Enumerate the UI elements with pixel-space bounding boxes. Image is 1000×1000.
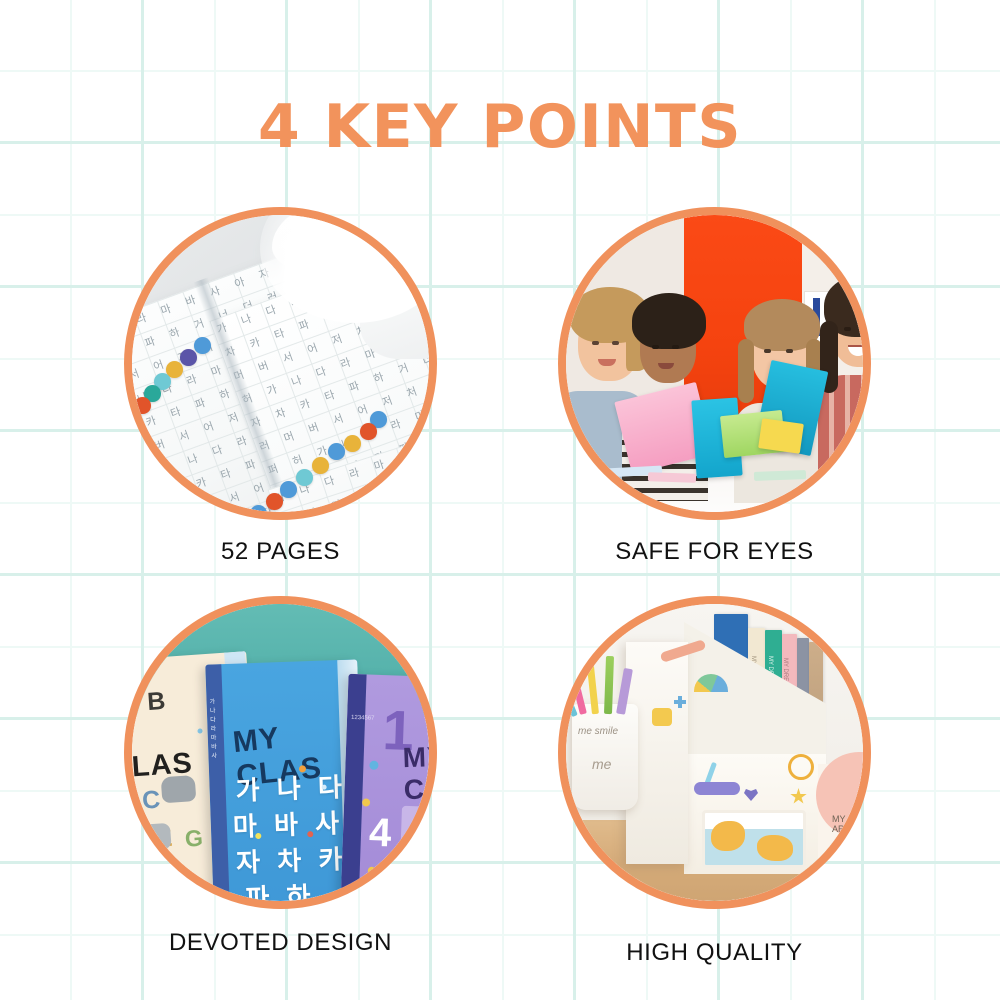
purple-numbers-cover: 1234567 1 MY C 4 (339, 674, 429, 901)
side-panel-text: MY ART (832, 814, 863, 834)
image-three-workbook-covers: CLAS A B C D E G J (132, 604, 429, 901)
heart-sticker (266, 493, 283, 510)
heart-sticker (360, 423, 377, 440)
heart-sticker (312, 457, 329, 474)
image-magazine-file-with-notebooks-on-desk: MY DREAM MATE MY DREAM MATE MY DREAM MAT… (566, 604, 863, 901)
heart-sticker (134, 397, 151, 414)
card-caption-high-quality: HIGH QUALITY (558, 939, 871, 967)
stopwatch-sticker (788, 754, 814, 780)
key-point-card-high-quality[interactable]: MY DREAM MATE MY DREAM MATE MY DREAM MAT… (558, 596, 871, 967)
hangul-line-3: 자 차 카 (236, 842, 348, 880)
hangul-line-1: 가 나 다 (235, 770, 347, 808)
image-four-students-reading-books (566, 215, 863, 512)
hangul-line-4: 파 하 (245, 879, 316, 901)
cup-text: me smile (578, 726, 618, 737)
heart-sticker (328, 443, 345, 460)
circle-frame-52-pages: 가나다라마바사아자 차카타파하거너더러 머버서어저처커터퍼 허가나다라마바사아 … (124, 207, 437, 520)
page-title: 4 KEY POINTS (0, 92, 1000, 162)
heart-sticker (180, 349, 197, 366)
card-caption-52-pages: 52 PAGES (124, 538, 437, 566)
holder-bottom-label (702, 810, 806, 868)
hangul-line-2: 마 바 사 (232, 806, 344, 844)
purple-cover-number-4: 4 (368, 811, 393, 857)
image-open-korean-workbook-under-desk-lamp: 가나다라마바사아자 차카타파하거너더러 머버서어저처커터퍼 허가나다라마바사아 … (132, 215, 429, 512)
card-caption-devoted-design: DEVOTED DESIGN (124, 929, 437, 957)
cup-text-2: me (592, 756, 611, 772)
yellow-square-sticker (652, 708, 672, 726)
plus-sticker (674, 696, 686, 708)
circle-frame-devoted-design: CLAS A B C D E G J (124, 596, 437, 909)
heart-sticker (296, 469, 313, 486)
circle-frame-high-quality: MY DREAM MATE MY DREAM MATE MY DREAM MAT… (558, 596, 871, 909)
key-point-card-safe-for-eyes[interactable]: SAFE FOR EYES (558, 207, 871, 566)
key-points-infographic: 4 KEY POINTS 가나다라마바사아자 차카타파하거너더러 머버서어저처커… (0, 0, 1000, 1000)
heart-sticker (194, 337, 211, 354)
holder-label-tag (694, 782, 740, 795)
card-caption-safe-for-eyes: SAFE FOR EYES (558, 538, 871, 566)
key-point-card-52-pages[interactable]: 가나다라마바사아자 차카타파하거너더러 머버서어저처커터퍼 허가나다라마바사아 … (124, 207, 437, 566)
heart-sticker (344, 435, 361, 452)
key-point-card-devoted-design[interactable]: CLAS A B C D E G J (124, 596, 437, 957)
heart-sticker (280, 481, 297, 498)
yellow-book (758, 418, 804, 454)
circle-frame-safe-for-eyes (558, 207, 871, 520)
purple-cover-title: MY C (402, 740, 429, 806)
